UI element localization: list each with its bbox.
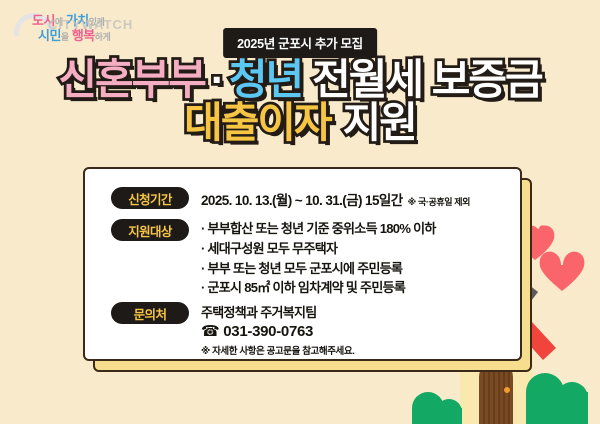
info-card: 신청기간 2025. 10. 13.(월) ~ 10. 31.(금) 15일간※… (83, 167, 522, 361)
eligibility-bullet-2: · 세대구성원 모두 무주택자 (201, 239, 436, 259)
contact-body: 주택정책과 주거복지팀 ☎ 031-390-0763 ※ 자세한 사항은 공고문… (201, 302, 354, 357)
row-eligibility: 지원대상 · 부부합산 또는 청년 기준 중위소득 180% 이하 · 세대구성… (111, 219, 436, 298)
poster-root: 도시에 가치있게 시민을 행복하게 CITYWATCH 2025년 군포시 추가… (0, 0, 600, 424)
pill-contact: 문의처 (111, 302, 189, 324)
application-period-body: 2025. 10. 13.(월) ~ 10. 31.(금) 15일간※ 국·공휴… (201, 187, 470, 209)
application-period-value: 2025. 10. 13.(월) ~ 10. 31.(금) 15일간 (201, 193, 403, 208)
pill-eligibility: 지원대상 (111, 219, 189, 241)
headline-line-2: 대출이자지원 (0, 101, 600, 146)
city-logo: 도시에 가치있게 시민을 행복하게 CITYWATCH (14, 6, 164, 46)
row-contact: 문의처 주택정책과 주거복지팀 ☎ 031-390-0763 ※ 자세한 사항은… (111, 302, 354, 357)
eligibility-bullets: · 부부합산 또는 청년 기준 중위소득 180% 이하 · 세대구성원 모두 … (201, 219, 436, 298)
headline-separator: · (211, 56, 223, 103)
logo-text-hage: 하게 (95, 32, 111, 42)
eligibility-bullet-4: · 군포시 85㎡ 이하 임차계약 및 주민등록 (201, 278, 436, 298)
row-application-period: 신청기간 2025. 10. 13.(월) ~ 10. 31.(금) 15일간※… (111, 187, 470, 209)
headline-word-newlyweds: 신혼부부 (58, 56, 205, 103)
heart-bottom-icon (540, 252, 585, 291)
bush-left-icon (412, 392, 462, 424)
contact-note: ※ 자세한 사항은 공고문을 참고해주세요. (201, 343, 354, 357)
headline-word-loan-interest: 대출이자 (184, 99, 331, 146)
logo-watermark: CITYWATCH (48, 17, 133, 32)
headline-word-support: 지원 (343, 99, 416, 146)
ribbon-label: 2025년 군포시 추가 모집 (223, 28, 377, 58)
contact-telephone[interactable]: ☎ 031-390-0763 (201, 322, 354, 340)
eligibility-bullet-3: · 부부 또는 청년 모두 군포시에 주민등록 (201, 259, 436, 279)
headline: 신혼부부·청년전월세 보증금 대출이자지원 (0, 58, 600, 145)
bush-right-icon (526, 373, 588, 424)
contact-department: 주택정책과 주거복지팀 (201, 302, 354, 321)
headline-line-1: 신혼부부·청년전월세 보증금 (0, 58, 600, 103)
pill-application-period: 신청기간 (111, 187, 189, 209)
eligibility-bullet-1: · 부부합산 또는 청년 기준 중위소득 180% 이하 (201, 219, 436, 239)
application-period-note: ※ 국·공휴일 제외 (408, 197, 470, 207)
logo-text-eul: 을 (61, 32, 69, 42)
headline-word-deposit: 전월세 보증금 (312, 56, 542, 103)
headline-word-youth: 청년 (229, 56, 302, 103)
